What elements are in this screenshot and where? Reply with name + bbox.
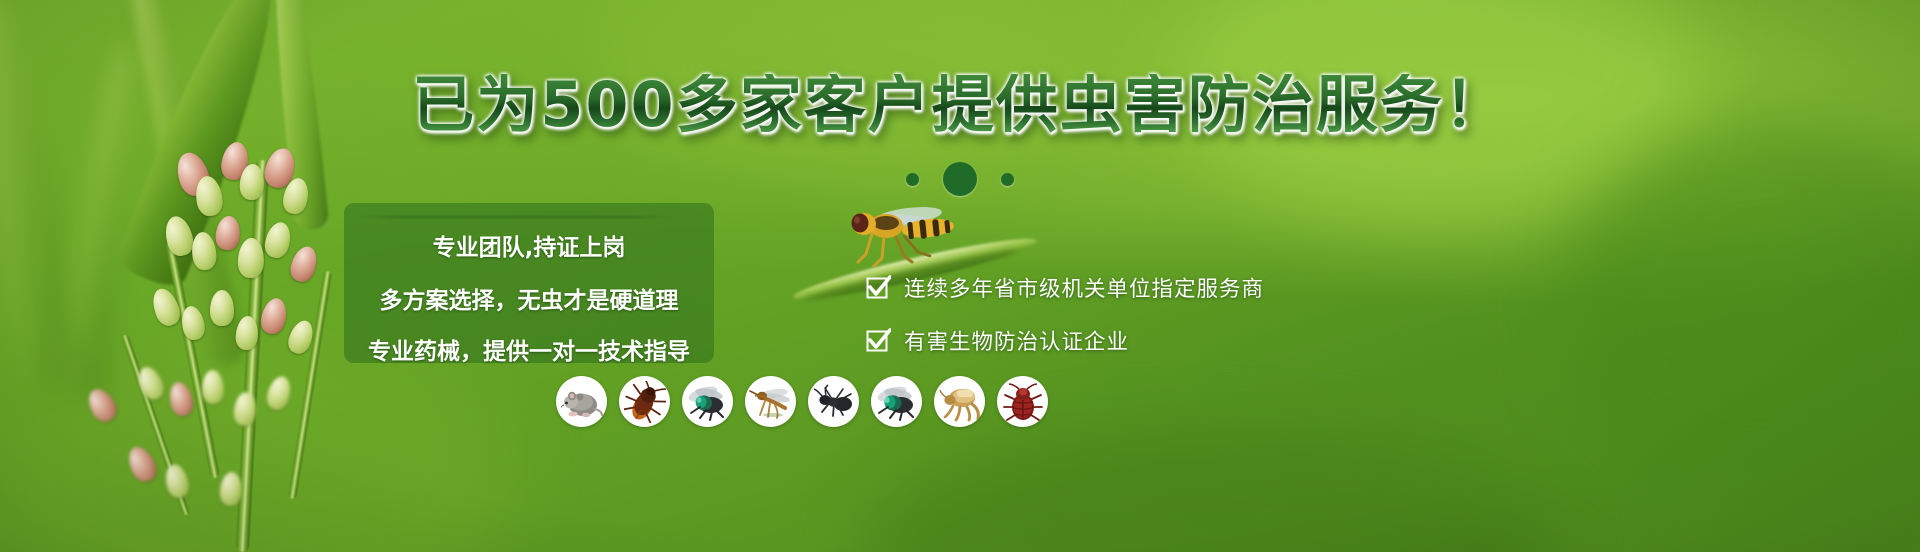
pest-control-hero-banner: 已为500多家客户提供虫害防治服务！ 专业团队,持证上岗 多方案选择，无虫才是硬…: [0, 0, 1920, 552]
rodent-mouse-icon[interactable]: [556, 376, 607, 427]
decorative-dots: [0, 162, 1920, 196]
dot-small-icon: [1001, 173, 1014, 186]
pest-type-icon-strip: [556, 376, 1048, 427]
page-title: 已为500多家客户提供虫害防治服务！: [0, 74, 1920, 136]
dot-small-icon: [906, 173, 919, 186]
slogan-line-2: 多方案选择，无虫才是硬道理: [380, 281, 679, 315]
blowfly-icon[interactable]: [871, 376, 922, 427]
list-item: 有害生物防治认证企业: [866, 325, 1264, 356]
flea-icon[interactable]: [934, 376, 985, 427]
mosquito-icon[interactable]: [745, 376, 796, 427]
list-item: 连续多年省市级机关单位指定服务商: [866, 272, 1264, 303]
cockroach-icon[interactable]: [619, 376, 670, 427]
slogan-line-1: 专业团队,持证上岗: [433, 228, 626, 262]
bedbug-icon[interactable]: [997, 376, 1048, 427]
slogan-panel: 专业团队,持证上岗 多方案选择，无虫才是硬道理 专业药械，提供一对一技术指导: [344, 203, 714, 363]
slogan-line-3: 专业药械，提供一对一技术指导: [368, 332, 690, 366]
dot-large-icon: [943, 162, 977, 196]
credential-text: 有害生物防治认证企业: [904, 325, 1129, 356]
housefly-icon[interactable]: [682, 376, 733, 427]
ant-icon[interactable]: [808, 376, 859, 427]
checkbox-check-icon: [866, 328, 891, 353]
credential-text: 连续多年省市级机关单位指定服务商: [904, 272, 1264, 303]
checkbox-check-icon: [866, 275, 891, 300]
credentials-list: 连续多年省市级机关单位指定服务商 有害生物防治认证企业: [866, 272, 1264, 356]
